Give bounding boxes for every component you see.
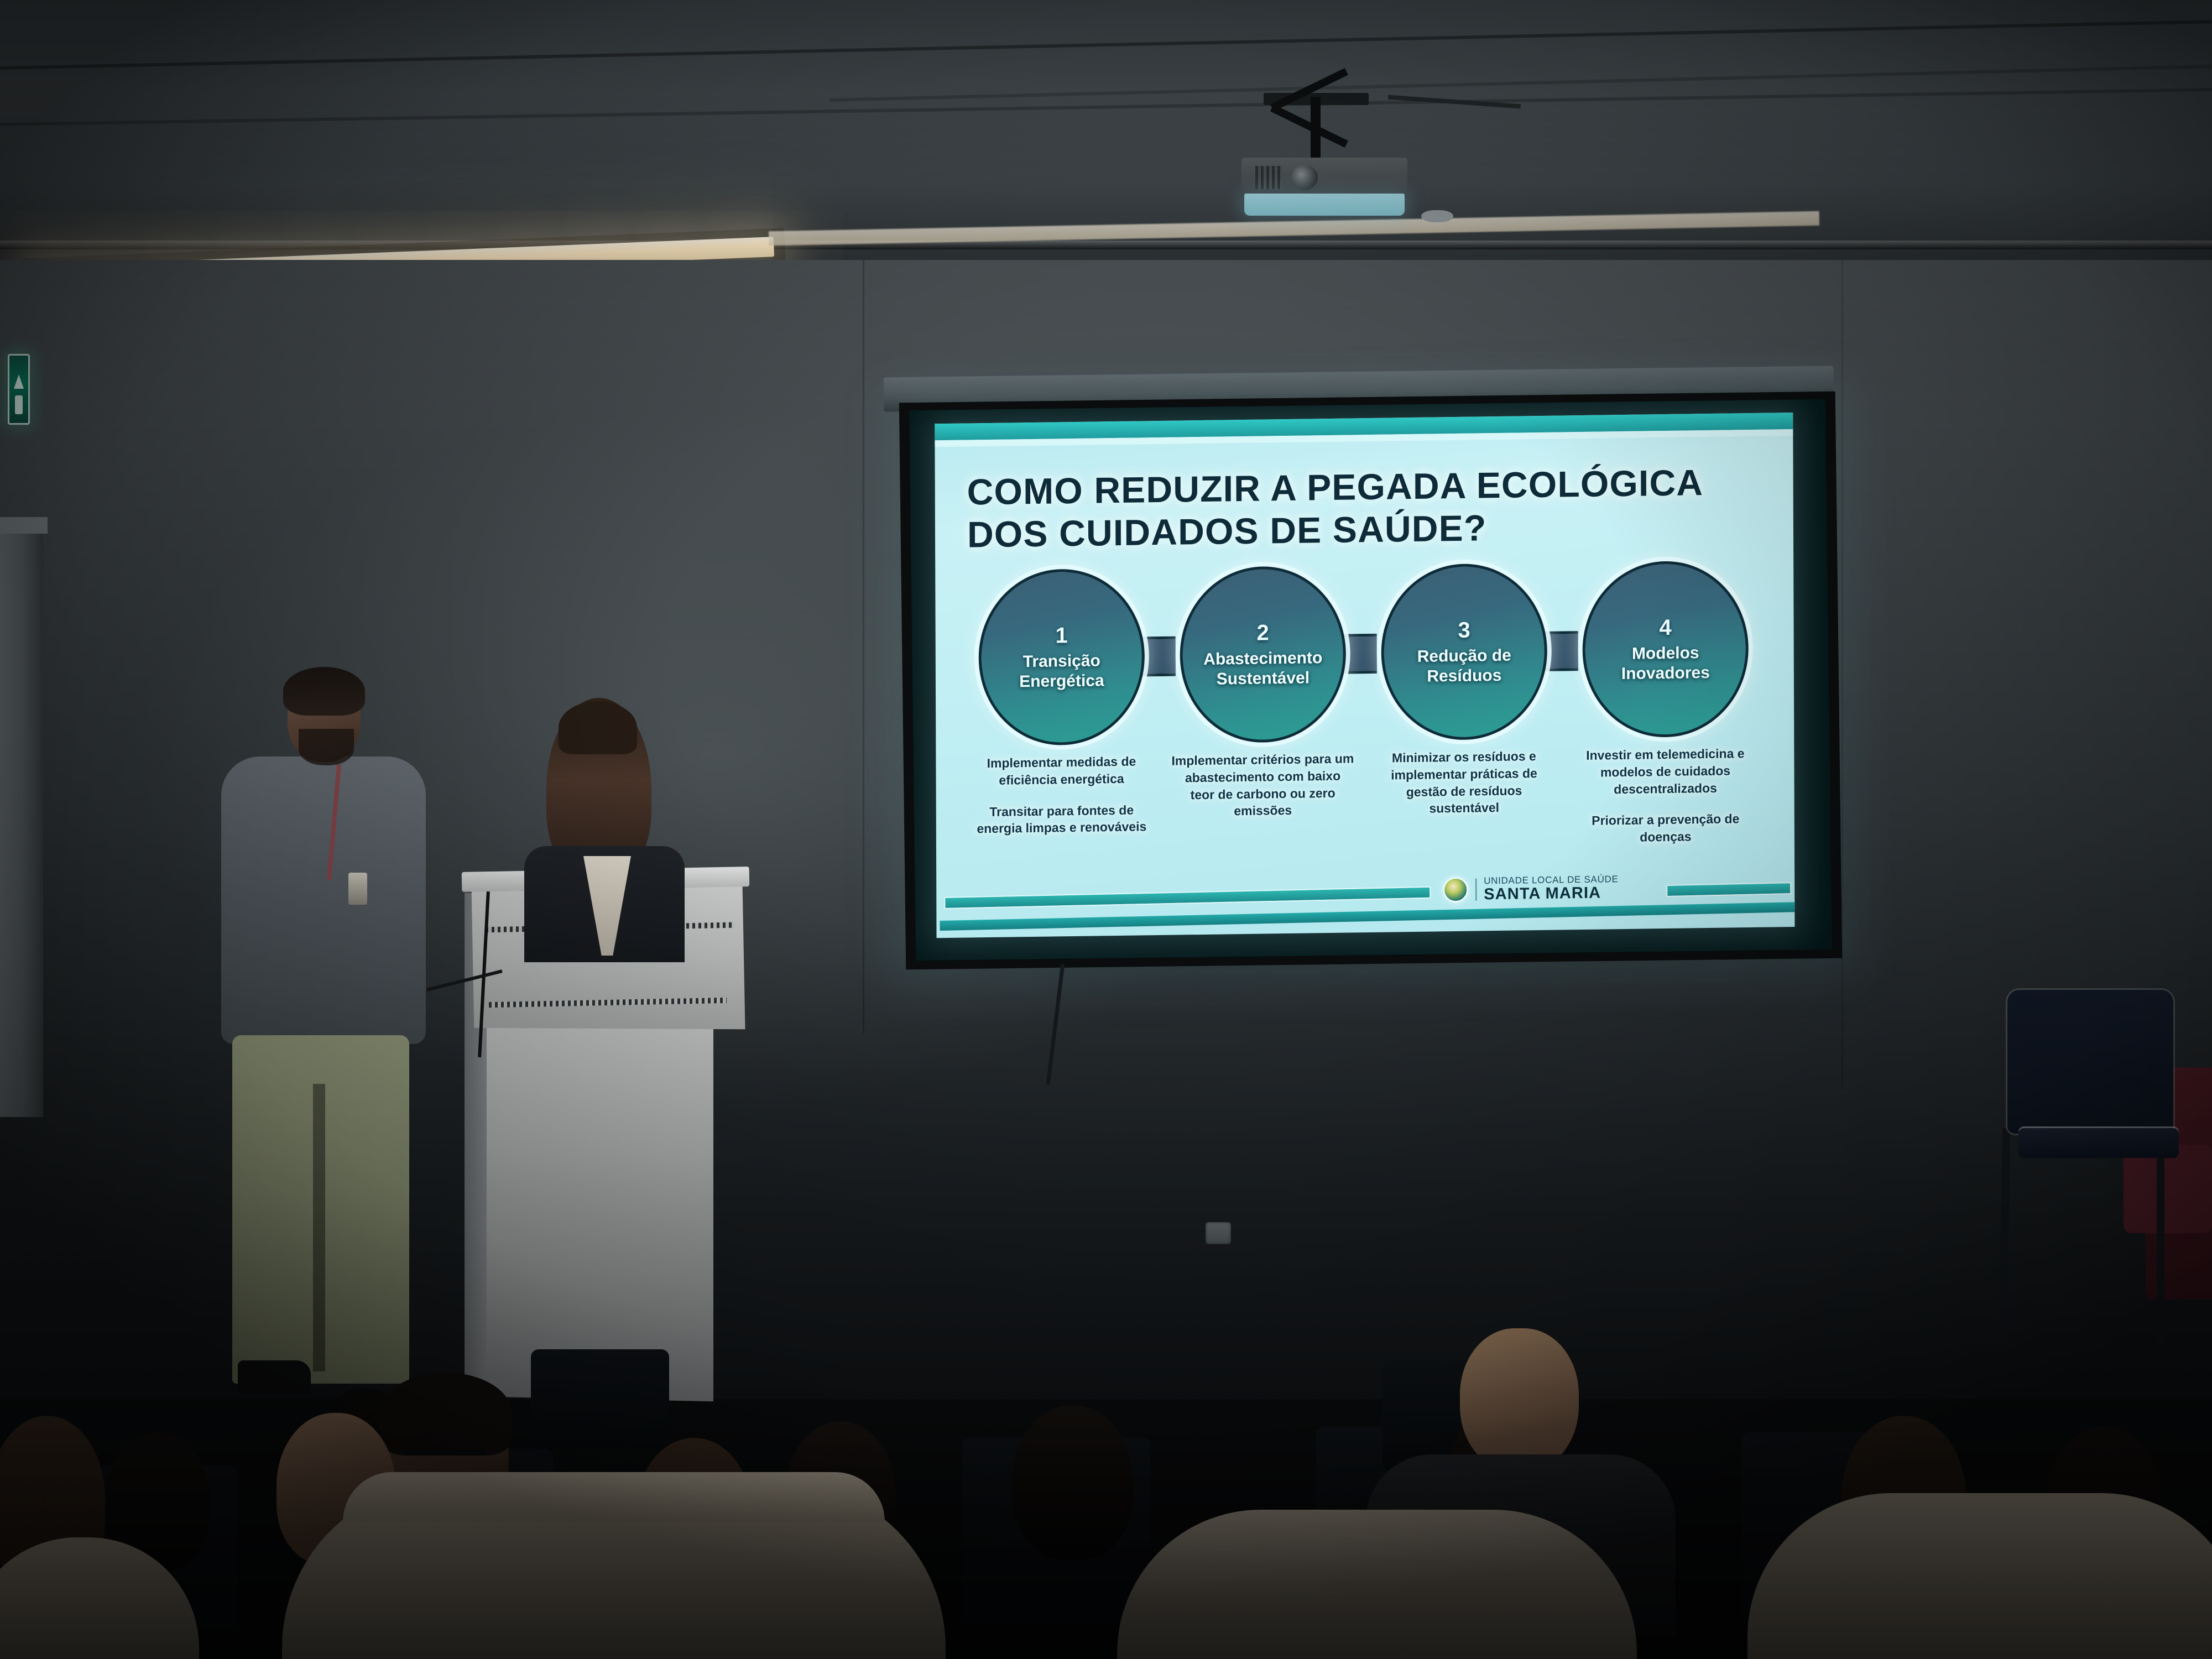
slide-column-4: Investir em telemedicina e modelos de cu… [1574, 745, 1757, 861]
node-label-line-2: Energética [1019, 671, 1104, 691]
eyeglasses-icon [403, 1450, 486, 1455]
lectern-body [487, 988, 713, 1402]
process-node-1[interactable]: 1 Transição Energética [978, 568, 1145, 746]
audience-jacket [1117, 1510, 1637, 1659]
node-label-line-1: Transição [1023, 651, 1100, 671]
foreground-shadow [0, 1416, 2212, 1659]
slide-column-3: Minimizar os resíduos e implementar prát… [1373, 748, 1556, 833]
projection-screen-surface: COMO REDUZIR A PEGADA ECOLÓGICA DOS CUID… [909, 399, 1832, 961]
node-label-line-2: Inovadores [1621, 663, 1710, 682]
audience-head [0, 1416, 105, 1582]
auditorium-seat[interactable] [962, 1438, 1150, 1637]
audience-head-bald [276, 1413, 395, 1565]
node-label: Abastecimento Sustentável [1192, 648, 1333, 689]
slide-column-1: Implementar medidas de eficiência energé… [970, 753, 1153, 852]
door-header [0, 517, 48, 534]
audience-head [2046, 1427, 2162, 1576]
presenter-man-beard [299, 729, 354, 765]
projector-body-lower [1244, 194, 1405, 216]
logo-mark-icon [1443, 877, 1468, 903]
slide-title: COMO REDUZIR A PEGADA ECOLÓGICA DOS CUID… [967, 461, 1741, 555]
process-node-2[interactable]: 2 Abastecimento Sustentável [1180, 566, 1346, 744]
projection-screen: COMO REDUZIR A PEGADA ECOLÓGICA DOS CUID… [899, 392, 1842, 970]
running-person-icon [15, 395, 23, 414]
chair-leg [2157, 1134, 2164, 1344]
conference-room-scene: COMO REDUZIR A PEGADA ECOLÓGICA DOS CUID… [0, 0, 2212, 1659]
node-label-line-2: Resíduos [1427, 666, 1501, 685]
auditorium-seat[interactable] [387, 1449, 553, 1637]
audience-shoulders [1366, 1454, 1676, 1637]
emergency-exit-sign [8, 354, 30, 425]
logo-text: UNIDADE LOCAL DE SAÚDE SANTA MARIA [1484, 874, 1619, 902]
audience-head [310, 1388, 418, 1529]
audience-head [636, 1438, 752, 1587]
column-paragraph: Implementar critérios para um abastecime… [1171, 750, 1354, 821]
node-number: 2 [1256, 620, 1269, 645]
chair-backrest[interactable] [2007, 990, 2173, 1134]
process-chain-diagram: 1 Transição Energética 2 Abastecimento S… [978, 560, 1753, 753]
presenter-man-badge [348, 873, 367, 905]
projector-mount-pole [1311, 97, 1321, 163]
chair-red-seat[interactable] [2124, 1145, 2212, 1233]
presenter-woman-hair-front [559, 701, 637, 754]
audience-head-with-glasses [382, 1377, 509, 1537]
wall-socket[interactable] [1206, 1222, 1231, 1244]
audience-jacket [1747, 1493, 2212, 1659]
presenter-man-torso [221, 757, 426, 1044]
organization-logo: UNIDADE LOCAL DE SAÚDE SANTA MARIA [1443, 870, 1664, 907]
node-label-line-1: Modelos [1632, 644, 1699, 663]
ceiling [0, 0, 2212, 260]
process-node-4[interactable]: 4 Modelos Inovadores [1582, 560, 1749, 738]
node-label-line-1: Redução de [1417, 646, 1511, 665]
projector-lens-icon [1291, 165, 1318, 190]
presentation-slide: COMO REDUZIR A PEGADA ECOLÓGICA DOS CUID… [935, 413, 1794, 938]
column-paragraph: Priorizar a prevenção de doenças [1574, 810, 1757, 847]
projector-vent-grille [1255, 166, 1282, 189]
audience-head [1449, 1399, 1568, 1551]
node-label: Transição Energética [1008, 651, 1115, 692]
slide-column-2: Implementar critérios para um abastecime… [1171, 750, 1354, 835]
column-paragraph: Implementar medidas de eficiência energé… [970, 753, 1152, 789]
side-door[interactable] [0, 531, 43, 1117]
chair-seat[interactable] [2018, 1128, 2179, 1158]
audience-shoulders [0, 1537, 199, 1659]
logo-divider [1475, 878, 1477, 900]
column-paragraph: Transitar para fontes de energia limpas … [971, 801, 1153, 838]
auditorium-seat[interactable] [1316, 1427, 1515, 1637]
auditorium-seat[interactable] [1742, 1432, 1930, 1637]
node-number: 1 [1055, 623, 1067, 648]
audience-jacket-collar [343, 1472, 885, 1522]
audience-head [105, 1432, 210, 1571]
presenter-man-shoe [238, 1360, 311, 1394]
audience-jacket [282, 1482, 946, 1659]
slide-footer-bar-right [1666, 882, 1791, 897]
door-handle[interactable] [3, 1454, 28, 1463]
logo-bottom-line: SANTA MARIA [1484, 884, 1618, 902]
node-label-line-2: Sustentável [1217, 669, 1310, 688]
presenter-man-leg-gap [313, 1084, 325, 1371]
column-paragraph: Investir em telemedicina e modelos de cu… [1574, 745, 1756, 799]
presenter-man-hair [283, 667, 365, 716]
audience-head [1012, 1405, 1134, 1559]
node-label: Modelos Inovadores [1610, 643, 1721, 684]
node-label-line-1: Abastecimento [1203, 649, 1322, 669]
column-paragraph: Minimizar os resíduos e implementar prát… [1373, 748, 1555, 818]
ceiling-smoke-detector-icon [1421, 210, 1453, 222]
node-label: Redução de Resíduos [1406, 645, 1522, 687]
exit-arrow-icon [14, 374, 24, 389]
audience-head [1841, 1416, 1966, 1576]
audience-head [785, 1421, 896, 1565]
node-number: 4 [1659, 615, 1671, 640]
process-node-3[interactable]: 3 Redução de Resíduos [1381, 563, 1547, 741]
node-number: 3 [1458, 618, 1470, 643]
auditorium-seat[interactable] [77, 1465, 238, 1642]
